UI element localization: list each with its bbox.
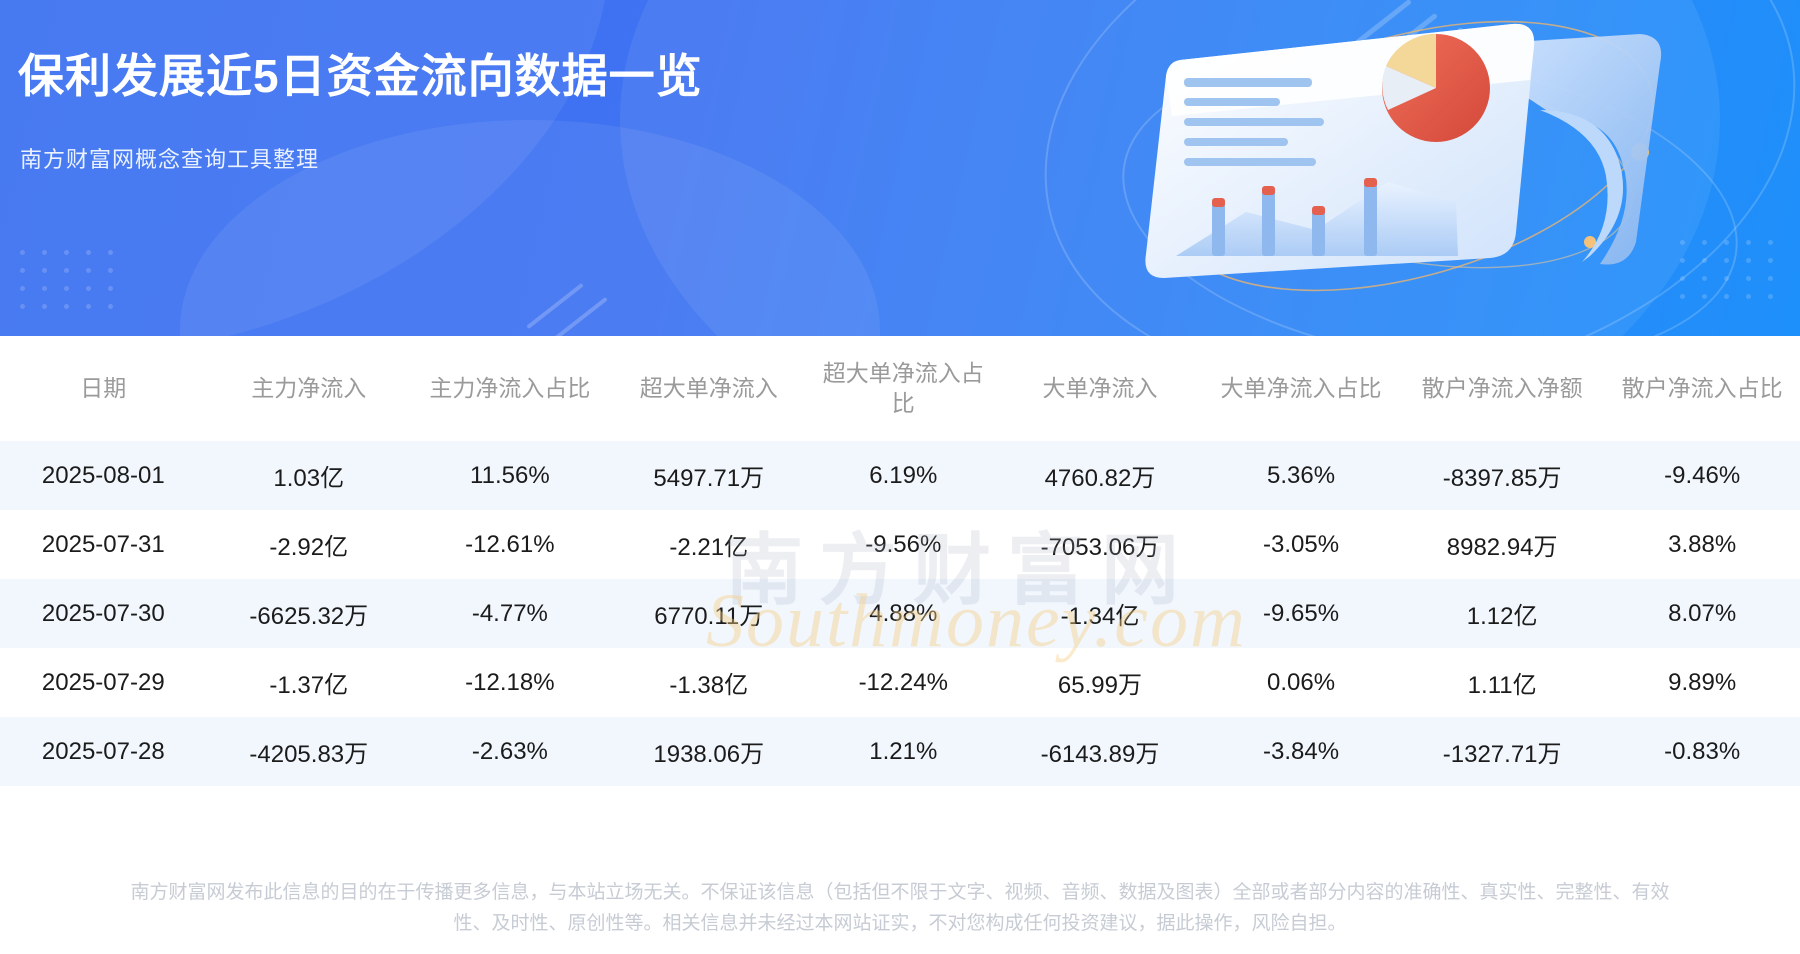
cell-xl-pct: -12.24% [809, 648, 998, 717]
column-header-retail-net: 散户净流入净额 [1400, 336, 1604, 441]
cell-lg-net: -1.34亿 [998, 579, 1202, 648]
table-header-row: 日期 主力净流入 主力净流入占比 超大单净流入 超大单净流入占比 大单净流入 大… [0, 336, 1800, 441]
table-row: 2025-07-29-1.37亿-12.18%-1.38亿-12.24%65.9… [0, 648, 1800, 717]
table-row: 2025-08-011.03亿11.56%5497.71万6.19%4760.8… [0, 441, 1800, 510]
cell-main-pct: -4.77% [411, 579, 609, 648]
cell-main-net: -6625.32万 [207, 579, 411, 648]
disclaimer-line-2: 性、及时性、原创性等。相关信息并未经过本网站证实，不对您构成任何投资建议，据此操… [14, 909, 1786, 940]
cell-xl-net: 6770.11万 [609, 579, 809, 648]
cell-lg-net: -7053.06万 [998, 510, 1202, 579]
cell-retail-pct: 8.07% [1604, 579, 1800, 648]
table-body: 2025-08-011.03亿11.56%5497.71万6.19%4760.8… [0, 441, 1800, 786]
fund-flow-table-container: 日期 主力净流入 主力净流入占比 超大单净流入 超大单净流入占比 大单净流入 大… [0, 336, 1800, 786]
cell-main-net: -4205.83万 [207, 717, 411, 786]
table-header: 日期 主力净流入 主力净流入占比 超大单净流入 超大单净流入占比 大单净流入 大… [0, 336, 1800, 441]
cell-main-net: -2.92亿 [207, 510, 411, 579]
cell-retail-pct: -9.46% [1604, 441, 1800, 510]
cell-main-pct: -2.63% [411, 717, 609, 786]
cell-lg-pct: -3.84% [1202, 717, 1400, 786]
cell-retail-net: 8982.94万 [1400, 510, 1604, 579]
cell-retail-net: -1327.71万 [1400, 717, 1604, 786]
page-subtitle: 南方财富网概念查询工具整理 [20, 142, 319, 174]
banner-diagonal-lines-lower [520, 300, 660, 336]
page-title: 保利发展近5日资金流向数据一览 [18, 48, 703, 106]
column-header-date: 日期 [0, 336, 207, 441]
column-header-xl-net: 超大单净流入 [609, 336, 809, 441]
cell-xl-net: 5497.71万 [609, 441, 809, 510]
column-header-lg-net: 大单净流入 [998, 336, 1202, 441]
cell-xl-pct: 1.21% [809, 717, 998, 786]
cell-lg-pct: 0.06% [1202, 648, 1400, 717]
cell-date: 2025-07-28 [0, 717, 207, 786]
column-header-main-net: 主力净流入 [207, 336, 411, 441]
cell-date: 2025-07-30 [0, 579, 207, 648]
cell-xl-pct: 4.88% [809, 579, 998, 648]
cell-main-pct: -12.61% [411, 510, 609, 579]
cell-xl-pct: 6.19% [809, 441, 998, 510]
cell-xl-net: -2.21亿 [609, 510, 809, 579]
cell-main-pct: -12.18% [411, 648, 609, 717]
column-header-xl-pct: 超大单净流入占比 [809, 336, 998, 441]
cell-xl-net: 1938.06万 [609, 717, 809, 786]
cell-lg-net: 65.99万 [998, 648, 1202, 717]
cell-xl-net: -1.38亿 [609, 648, 809, 717]
page-root: 保利发展近5日资金流向数据一览 南方财富网概念查询工具整理 [0, 0, 1800, 954]
disclaimer-line-1: 南方财富网发布此信息的目的在于传播更多信息，与本站立场无关。不保证该信息（包括但… [14, 878, 1786, 909]
cell-main-pct: 11.56% [411, 441, 609, 510]
banner-dot-grid-right [1680, 240, 1790, 310]
column-header-lg-pct: 大单净流入占比 [1202, 336, 1400, 441]
cell-main-net: 1.03亿 [207, 441, 411, 510]
column-header-retail-pct: 散户净流入占比 [1604, 336, 1800, 441]
cell-lg-net: 4760.82万 [998, 441, 1202, 510]
cell-date: 2025-08-01 [0, 441, 207, 510]
header-banner: 保利发展近5日资金流向数据一览 南方财富网概念查询工具整理 [0, 0, 1800, 336]
cell-lg-net: -6143.89万 [998, 717, 1202, 786]
disclaimer: 南方财富网发布此信息的目的在于传播更多信息，与本站立场无关。不保证该信息（包括但… [0, 878, 1800, 940]
cell-retail-net: 1.11亿 [1400, 648, 1604, 717]
cell-retail-pct: -0.83% [1604, 717, 1800, 786]
cell-main-net: -1.37亿 [207, 648, 411, 717]
cell-lg-pct: -3.05% [1202, 510, 1400, 579]
cell-xl-pct: -9.56% [809, 510, 998, 579]
cell-retail-pct: 9.89% [1604, 648, 1800, 717]
cell-date: 2025-07-31 [0, 510, 207, 579]
table-row: 2025-07-31-2.92亿-12.61%-2.21亿-9.56%-7053… [0, 510, 1800, 579]
table-row: 2025-07-30-6625.32万-4.77%6770.11万4.88%-1… [0, 579, 1800, 648]
fund-flow-table: 日期 主力净流入 主力净流入占比 超大单净流入 超大单净流入占比 大单净流入 大… [0, 336, 1800, 786]
cell-retail-net: -8397.85万 [1400, 441, 1604, 510]
banner-dot-grid-left [20, 250, 140, 320]
cell-lg-pct: 5.36% [1202, 441, 1400, 510]
cell-retail-pct: 3.88% [1604, 510, 1800, 579]
cell-lg-pct: -9.65% [1202, 579, 1400, 648]
cell-date: 2025-07-29 [0, 648, 207, 717]
cell-retail-net: 1.12亿 [1400, 579, 1604, 648]
column-header-main-pct: 主力净流入占比 [411, 336, 609, 441]
table-row: 2025-07-28-4205.83万-2.63%1938.06万1.21%-6… [0, 717, 1800, 786]
report-document-piechart-illustration [1120, 6, 1680, 306]
